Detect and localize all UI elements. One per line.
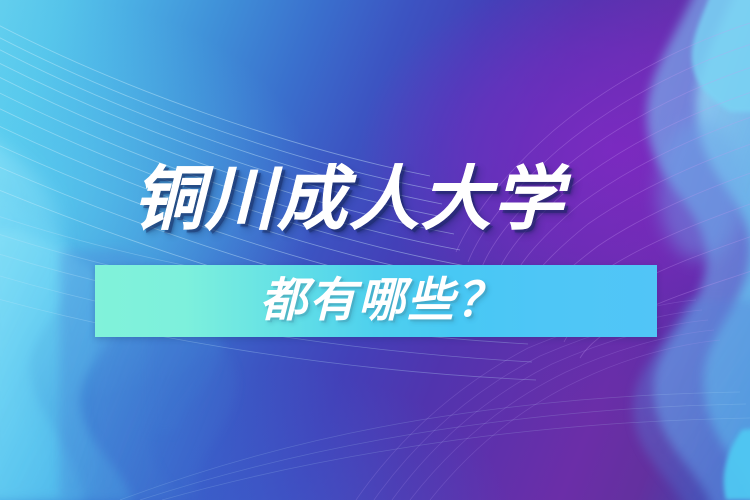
promo-banner: 铜川成人大学 都有哪些？	[0, 0, 750, 500]
subtitle-band: 都有哪些？	[95, 265, 657, 337]
subtitle-text: 都有哪些？	[95, 265, 505, 337]
right-wave-group	[633, 0, 750, 500]
page-title: 铜川成人大学	[133, 158, 633, 240]
decorative-wave-shapes	[0, 0, 750, 500]
